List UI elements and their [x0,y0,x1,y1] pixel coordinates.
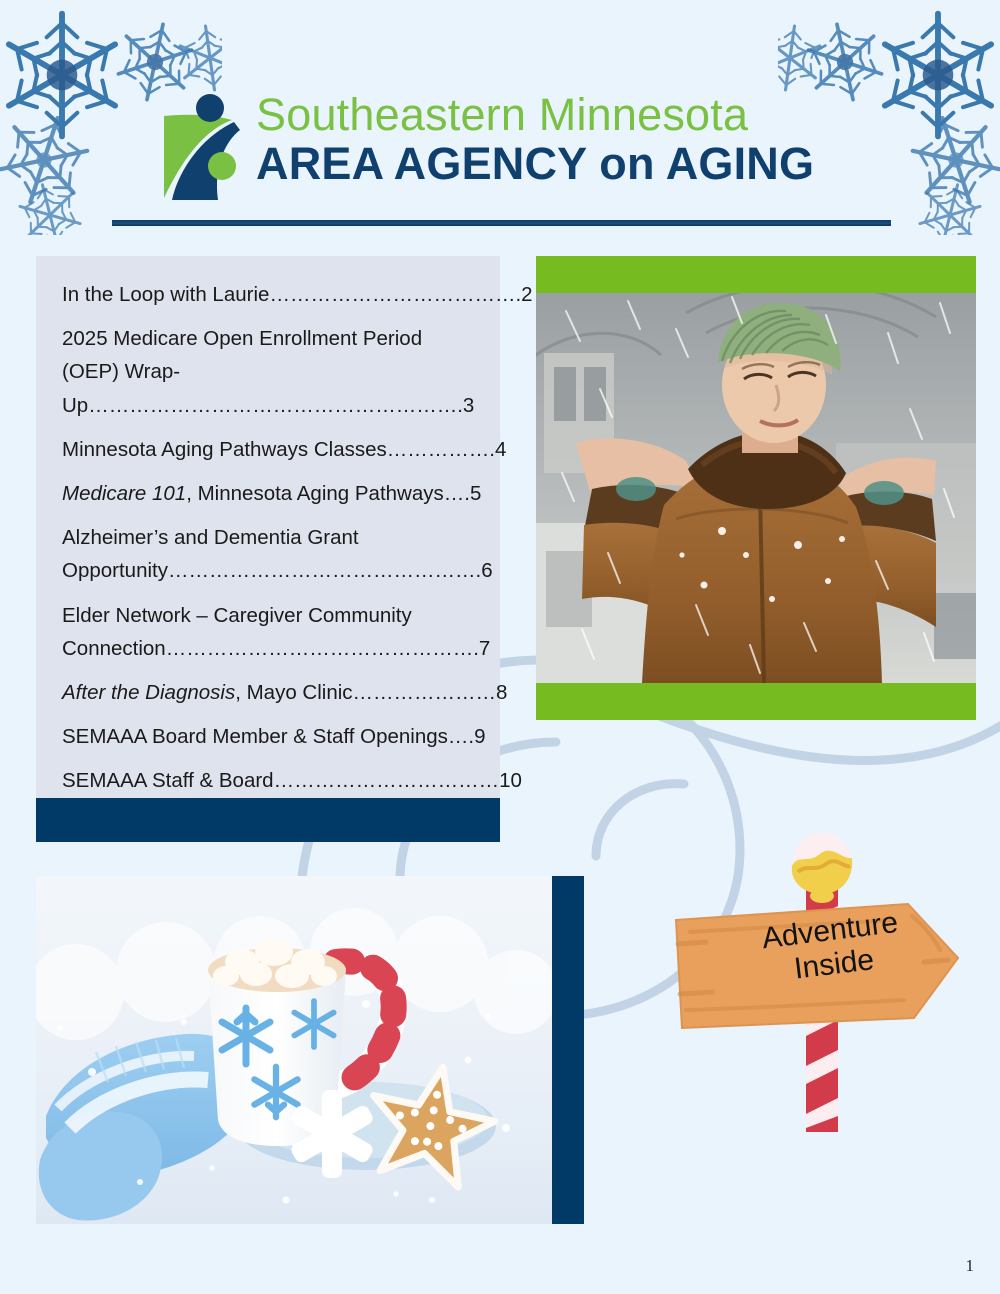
toc-entry-page: 2 [521,283,532,306]
toc-entry-leader: …………………………… [274,769,500,792]
woman-catching-snow-photo [536,293,976,683]
page-number: 1 [966,1256,975,1276]
toc-entry-leader: …. [448,725,474,748]
toc-entry-leader: ………………………………………. [168,559,481,582]
toc-entry-leader: ………………… [353,681,497,704]
toc-entry-leader: ………………………………. [269,283,521,306]
toc-entry-page: 9 [474,725,485,748]
logo-line-two: AREA AGENCY on AGING [256,141,814,186]
toc-entry[interactable]: After the Diagnosis, Mayo Clinic…………………8 [62,676,484,709]
toc-entry-leader: ………………………………………………. [88,394,463,417]
toc-entry-title: In the Loop with Laurie [62,283,269,306]
toc-entry[interactable]: In the Loop with Laurie……………………………….2 [62,278,484,311]
toc-entry[interactable]: Medicare 101, Minnesota Aging Pathways….… [62,477,484,510]
toc-accent-bar [36,798,500,842]
person-sail-logo-icon [160,94,246,206]
toc-entry-page: 7 [479,637,490,660]
toc-entry[interactable]: SEMAAA Staff & Board……………………………10 [62,764,484,797]
logo-line-one: Southeastern Minnesota [256,92,814,137]
toc-entry-title: Minnesota Aging Pathways Classes [62,438,387,461]
organization-logo: Southeastern Minnesota AREA AGENCY on AG… [160,92,814,206]
newsletter-page: Southeastern Minnesota AREA AGENCY on AG… [0,0,1000,1294]
toc-entry-leader: ……………. [387,438,495,461]
toc-entry-page: 3 [463,394,474,417]
toc-entry[interactable]: Alzheimer’s and Dementia Grant Opportuni… [62,521,484,587]
woman-photo-green-frame [536,256,976,720]
toc-entry-title: , Mayo Clinic [235,681,352,704]
newsletter-header: Southeastern Minnesota AREA AGENCY on AG… [0,0,1000,236]
table-of-contents-panel: In the Loop with Laurie……………………………….2202… [36,256,500,798]
toc-entry-page: 10 [499,769,522,792]
hot-cocoa-mittens-photo [36,876,552,1224]
header-divider [112,220,891,226]
toc-entry[interactable]: SEMAAA Board Member & Staff Openings….9 [62,720,484,753]
toc-list: In the Loop with Laurie……………………………….2202… [62,278,484,798]
toc-entry-title-italic: After the Diagnosis [62,681,235,704]
toc-entry[interactable]: Elder Network – Caregiver Community Conn… [62,599,484,665]
toc-entry-page: 8 [496,681,507,704]
adventure-inside-sign: Adventure Inside [672,832,982,1162]
toc-entry-page: 4 [495,438,506,461]
toc-entry-leader: …. [444,482,470,505]
toc-entry-page: 5 [470,482,481,505]
toc-entry-title: , Minnesota Aging Pathways [186,482,444,505]
toc-entry-title-italic: Medicare 101 [62,482,186,505]
cocoa-photo-accent-bar [552,876,584,1224]
toc-entry-page: 6 [481,559,492,582]
toc-entry-title: SEMAAA Board Member & Staff Openings [62,725,448,748]
toc-entry-title: SEMAAA Staff & Board [62,769,274,792]
toc-entry-leader: ………………………………………. [166,637,479,660]
toc-entry[interactable]: 2025 Medicare Open Enrollment Period (OE… [62,322,484,422]
toc-entry[interactable]: Minnesota Aging Pathways Classes…………….4 [62,433,484,466]
